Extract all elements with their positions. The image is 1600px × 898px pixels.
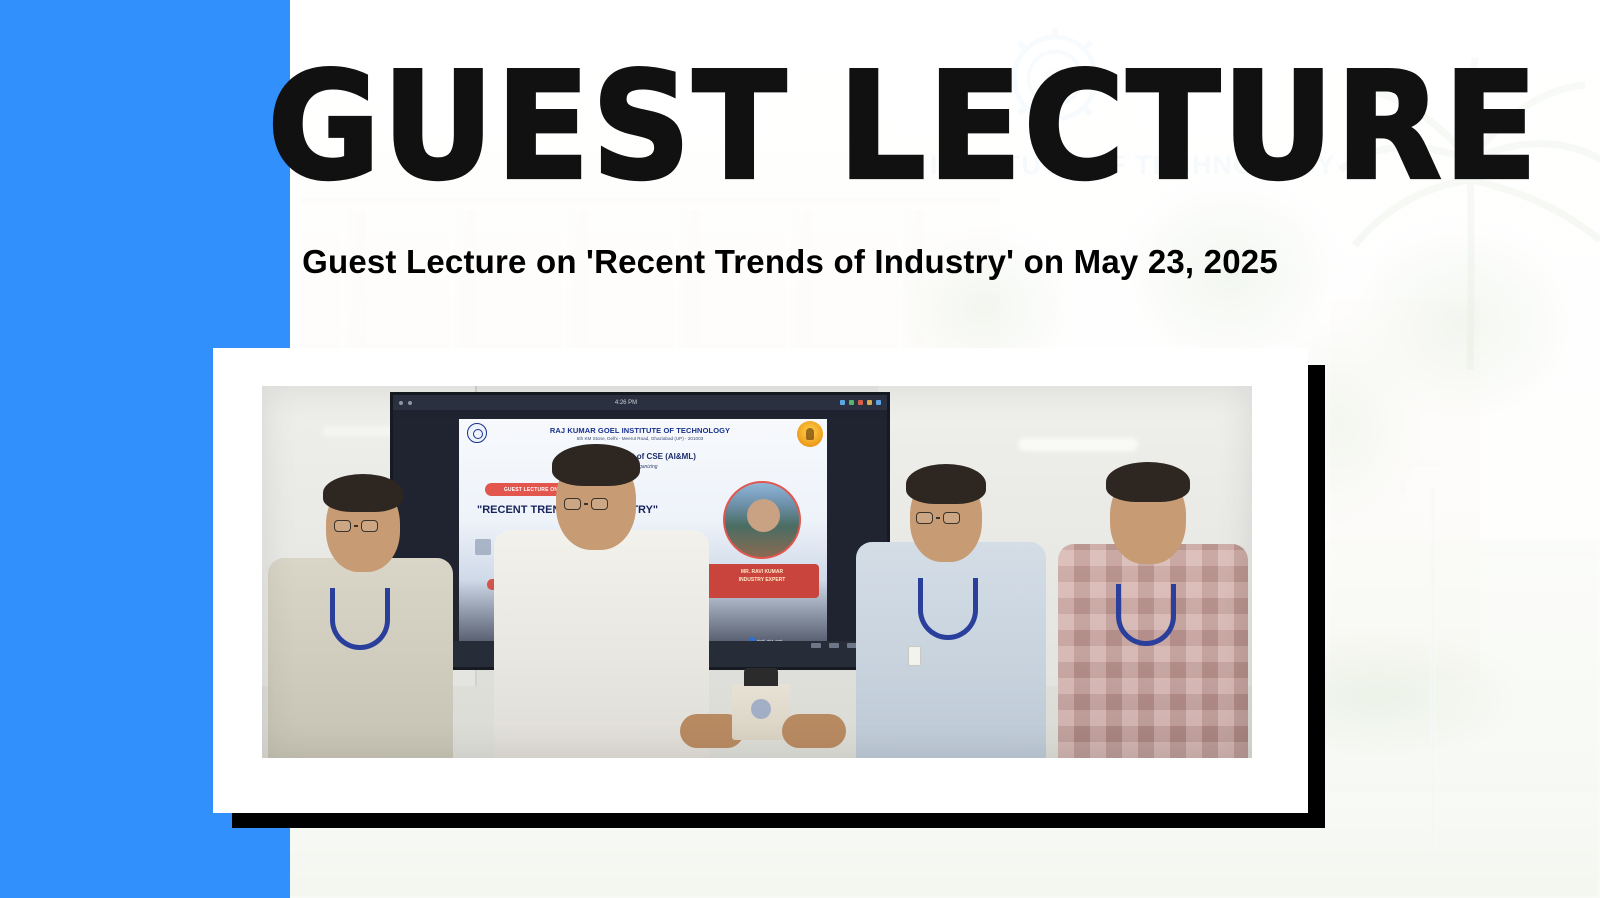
page-title: GUEST LECTURE <box>268 52 1433 203</box>
photo-card-frame: 4:26 PM RAJ KUMAR GOEL INSTITUTE OF TECH… <box>213 348 1308 813</box>
person-second-hair <box>552 444 640 486</box>
person-third-glasses-icon <box>916 512 960 524</box>
person-right-hair <box>1106 462 1190 502</box>
screen-dot-icon <box>408 401 412 405</box>
person-third-hair <box>906 464 986 504</box>
screen-icon-blue-2 <box>876 400 881 405</box>
screen-top-bar: 4:26 PM <box>393 395 887 410</box>
person-right-lanyard-icon <box>1116 584 1176 646</box>
slide-speaker-name: MR. RAVI KUMAR <box>705 568 819 576</box>
taskbar-control-icon <box>829 643 839 648</box>
screen-icon-green <box>849 400 854 405</box>
taskbar-control-icon <box>811 643 821 648</box>
screen-status-icons <box>840 400 881 405</box>
slide-speaker-photo <box>723 481 801 559</box>
screen-icon-blue <box>840 400 845 405</box>
screen-dot-icon <box>399 401 403 405</box>
slide-speaker-name-plate: MR. RAVI KUMAR INDUSTRY EXPERT <box>705 564 819 598</box>
person-left-glasses-icon <box>334 520 378 532</box>
slide-speaker-role: INDUSTRY EXPERT <box>705 576 819 584</box>
person-second-glasses-icon <box>564 498 608 510</box>
person-left-lanyard-icon <box>330 588 390 650</box>
screen-clock: 4:26 PM <box>417 400 835 406</box>
slide-institute-address: 5th KM Stone, Delhi - Meerut Road, Ghazi… <box>493 436 787 441</box>
person-third-id-badge <box>908 646 921 666</box>
slide-institute-name: RAJ KUMAR GOEL INSTITUTE OF TECHNOLOGY <box>493 426 787 435</box>
golden-emblem-icon <box>797 421 823 447</box>
institute-logo-icon <box>467 423 487 443</box>
slide-department: Department of CSE (AI&ML) <box>459 452 827 461</box>
screen-icon-red <box>858 400 863 405</box>
person-left-hair <box>323 474 403 512</box>
person-right-torso <box>1058 544 1248 758</box>
event-photograph: 4:26 PM RAJ KUMAR GOEL INSTITUTE OF TECH… <box>262 386 1252 758</box>
screen-icon-yellow <box>867 400 872 405</box>
person-second-torso <box>494 530 709 758</box>
person-third-torso <box>856 542 1046 758</box>
person-third-lanyard-icon <box>918 578 978 640</box>
partner-logo-icon-1 <box>475 539 491 555</box>
slide-organizing-label: is Organizing <box>459 464 827 470</box>
hand-right <box>782 714 846 748</box>
page-subtitle: Guest Lecture on 'Recent Trends of Indus… <box>170 243 1410 281</box>
ceiling-light-reflection <box>1018 438 1138 451</box>
